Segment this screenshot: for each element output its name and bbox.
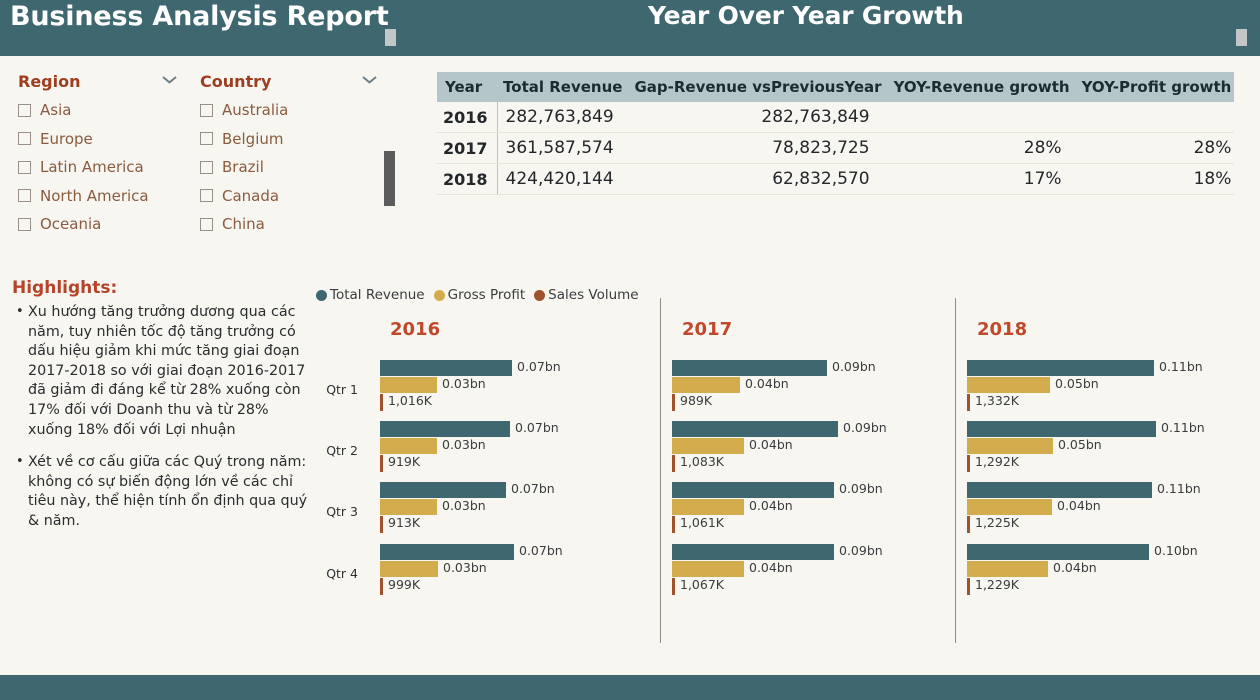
bar-sales-volume-value-label: 919K (388, 454, 420, 469)
bar-gross-profit[interactable] (672, 377, 740, 393)
country-option-belgium[interactable]: Belgium (200, 125, 390, 154)
bar-total-revenue[interactable] (967, 360, 1154, 376)
bar-total-revenue[interactable] (967, 482, 1152, 498)
country-option-list: AustraliaBelgiumBrazilCanadaChina (200, 96, 390, 239)
bar-total-revenue[interactable] (672, 544, 834, 560)
col-header-yoy-profit[interactable]: YOY-Profit growth (1076, 72, 1235, 102)
cell-yoy-revenue: 17% (888, 164, 1076, 195)
checkbox-icon[interactable] (18, 161, 31, 174)
cell-yoy-revenue (888, 102, 1076, 133)
chart-panel-title: 2018 (977, 319, 1027, 340)
bar-gross-profit[interactable] (380, 561, 438, 577)
country-option-label: China (222, 215, 265, 233)
region-filter-label: Region (18, 72, 81, 91)
region-option-list: AsiaEuropeLatin AmericaNorth AmericaOcea… (18, 96, 188, 239)
highlight-item: Xu hướng tăng trưởng dương qua các năm, … (12, 303, 312, 440)
cell-year: 2016 (437, 102, 497, 133)
bar-gross-profit[interactable] (967, 499, 1052, 515)
bar-gross-profit-value-label: 0.05bn (1058, 437, 1102, 452)
bar-gross-profit[interactable] (380, 499, 437, 515)
bar-total-revenue-value-label: 0.09bn (839, 481, 883, 496)
bar-sales-volume[interactable] (672, 455, 675, 472)
quarter-axis-label: Qtr 2 (316, 443, 358, 458)
checkbox-icon[interactable] (18, 132, 31, 145)
bar-sales-volume-value-label: 1,061K (680, 515, 724, 530)
checkbox-icon[interactable] (18, 218, 31, 231)
bar-gross-profit-value-label: 0.03bn (443, 560, 487, 575)
region-option-label: Europe (40, 130, 93, 148)
checkbox-icon[interactable] (200, 132, 213, 145)
bar-sales-volume[interactable] (967, 516, 970, 533)
bar-total-revenue-value-label: 0.11bn (1159, 359, 1203, 374)
bar-total-revenue[interactable] (672, 482, 834, 498)
bar-total-revenue[interactable] (672, 360, 827, 376)
filter-panel: Region AsiaEuropeLatin AmericaNorth Amer… (0, 56, 420, 248)
chart-panels: 2016Qtr 10.07bn0.03bn1,016KQtr 20.07bn0.… (316, 305, 1246, 645)
region-option-oceania[interactable]: Oceania (18, 210, 188, 239)
legend-item-total-revenue[interactable]: Total Revenue (316, 287, 425, 303)
bar-sales-volume-value-label: 989K (680, 393, 712, 408)
checkbox-icon[interactable] (200, 218, 213, 231)
bar-sales-volume[interactable] (672, 516, 675, 533)
cell-gap-revenue: 62,832,570 (628, 164, 887, 195)
country-option-label: Brazil (222, 158, 264, 176)
country-filter-header[interactable]: Country (200, 72, 390, 96)
table-row[interactable]: 2018424,420,14462,832,57017%18% (437, 164, 1234, 195)
country-option-australia[interactable]: Australia (200, 96, 390, 125)
bar-total-revenue-value-label: 0.07bn (517, 359, 561, 374)
bar-sales-volume-value-label: 1,067K (680, 577, 724, 592)
bar-gross-profit-value-label: 0.04bn (1057, 498, 1101, 513)
bar-gross-profit-value-label: 0.05bn (1055, 376, 1099, 391)
legend-label: Sales Volume (548, 287, 638, 303)
bar-total-revenue-value-label: 0.09bn (843, 420, 887, 435)
region-filter-header[interactable]: Region (18, 72, 188, 96)
bar-gross-profit[interactable] (967, 438, 1053, 454)
region-option-latin-america[interactable]: Latin America (18, 153, 188, 182)
bar-gross-profit[interactable] (380, 438, 437, 454)
bar-sales-volume-value-label: 1,229K (975, 577, 1019, 592)
bar-gross-profit[interactable] (672, 438, 744, 454)
region-option-asia[interactable]: Asia (18, 96, 188, 125)
cell-yoy-revenue: 28% (888, 133, 1076, 164)
cell-year: 2017 (437, 133, 497, 164)
legend-item-sales-volume[interactable]: Sales Volume (534, 287, 638, 303)
legend-swatch-icon (534, 290, 545, 301)
bar-gross-profit-value-label: 0.04bn (1053, 560, 1097, 575)
region-option-label: Latin America (40, 158, 144, 176)
header-marker-right[interactable] (1236, 29, 1247, 46)
legend-swatch-icon (434, 290, 445, 301)
bar-gross-profit-value-label: 0.04bn (745, 376, 789, 391)
chart-panel-2017: 20170.09bn0.04bn989K0.09bn0.04bn1,083K0.… (660, 305, 955, 645)
bar-total-revenue[interactable] (967, 544, 1149, 560)
country-option-china[interactable]: China (200, 210, 390, 239)
bar-gross-profit-value-label: 0.04bn (749, 560, 793, 575)
highlights-section: Highlights: Xu hướng tăng trưởng dương q… (12, 278, 312, 545)
quarter-axis-label: Qtr 4 (316, 566, 358, 581)
legend-item-gross-profit[interactable]: Gross Profit (434, 287, 526, 303)
chart-panel-title: 2017 (682, 319, 732, 340)
header-marker-left[interactable] (385, 29, 396, 46)
checkbox-icon[interactable] (18, 104, 31, 117)
col-header-year[interactable]: Year (437, 72, 497, 102)
region-filter: Region AsiaEuropeLatin AmericaNorth Amer… (18, 72, 188, 239)
bar-total-revenue-value-label: 0.11bn (1161, 420, 1205, 435)
bar-total-revenue[interactable] (672, 421, 838, 437)
legend-label: Total Revenue (330, 287, 425, 303)
legend-swatch-icon (316, 290, 327, 301)
highlights-list: Xu hướng tăng trưởng dương qua các năm, … (12, 303, 312, 532)
bar-gross-profit-value-label: 0.04bn (749, 437, 793, 452)
bar-sales-volume[interactable] (967, 394, 970, 411)
cell-total-revenue: 361,587,574 (497, 133, 628, 164)
chart-panel-2016: 2016Qtr 10.07bn0.03bn1,016KQtr 20.07bn0.… (316, 305, 660, 645)
bar-gross-profit[interactable] (967, 561, 1048, 577)
country-option-brazil[interactable]: Brazil (200, 153, 390, 182)
country-option-label: Canada (222, 187, 279, 205)
cell-yoy-profit: 28% (1076, 133, 1235, 164)
bar-total-revenue-value-label: 0.11bn (1157, 481, 1201, 496)
bar-sales-volume-value-label: 999K (388, 577, 420, 592)
country-option-label: Belgium (222, 130, 284, 148)
col-header-gap-revenue[interactable]: Gap-Revenue vsPreviousYear (628, 72, 887, 102)
bar-gross-profit-value-label: 0.03bn (442, 376, 486, 391)
country-filter: Country AustraliaBelgiumBrazilCanadaChin… (200, 72, 390, 239)
bar-sales-volume[interactable] (967, 578, 970, 595)
legend-label: Gross Profit (448, 287, 526, 303)
cell-gap-revenue: 282,763,849 (628, 102, 887, 133)
bar-sales-volume-value-label: 1,083K (680, 454, 724, 469)
country-option-label: Australia (222, 101, 288, 119)
bar-sales-volume[interactable] (380, 516, 383, 533)
cell-total-revenue: 282,763,849 (497, 102, 628, 133)
checkbox-icon[interactable] (200, 161, 213, 174)
checkbox-icon[interactable] (200, 104, 213, 117)
cell-gap-revenue: 78,823,725 (628, 133, 887, 164)
bar-total-revenue-value-label: 0.07bn (519, 543, 563, 558)
bar-total-revenue-value-label: 0.07bn (511, 481, 555, 496)
bar-total-revenue[interactable] (380, 482, 506, 498)
bar-sales-volume[interactable] (967, 455, 970, 472)
region-option-label: Asia (40, 101, 71, 119)
dashboard-root: Business Analysis Report Year Over Year … (0, 0, 1260, 700)
bar-gross-profit-value-label: 0.03bn (442, 437, 486, 452)
chart-panel-2018: 20180.11bn0.05bn1,332K0.11bn0.05bn1,292K… (955, 305, 1246, 645)
bar-sales-volume[interactable] (672, 578, 675, 595)
bar-sales-volume[interactable] (380, 455, 383, 472)
app-header: Business Analysis Report Year Over Year … (0, 0, 1260, 56)
bar-sales-volume[interactable] (672, 394, 675, 411)
bar-gross-profit[interactable] (672, 561, 744, 577)
table-row[interactable]: 2016282,763,849282,763,849 (437, 102, 1234, 133)
chart-legend: Total RevenueGross ProfitSales Volume (316, 287, 648, 303)
bar-sales-volume-value-label: 1,332K (975, 393, 1019, 408)
bar-total-revenue-value-label: 0.07bn (515, 420, 559, 435)
bar-sales-volume-value-label: 1,292K (975, 454, 1019, 469)
region-option-label: Oceania (40, 215, 101, 233)
bar-total-revenue-value-label: 0.10bn (1154, 543, 1198, 558)
yoy-summary-table: Year Total Revenue Gap-Revenue vsPreviou… (437, 72, 1225, 195)
bar-total-revenue[interactable] (380, 421, 510, 437)
chevron-down-icon[interactable] (363, 76, 376, 84)
col-header-total-revenue[interactable]: Total Revenue (497, 72, 628, 102)
chevron-down-icon[interactable] (163, 76, 176, 84)
page-title-right: Year Over Year Growth (648, 1, 964, 30)
region-option-north-america[interactable]: North America (18, 182, 188, 211)
quarter-axis-label: Qtr 1 (316, 382, 358, 397)
col-header-yoy-revenue[interactable]: YOY-Revenue growth (888, 72, 1076, 102)
table-row[interactable]: 2017361,587,57478,823,72528%28% (437, 133, 1234, 164)
chart-panel-title: 2016 (390, 319, 440, 340)
cell-yoy-profit: 18% (1076, 164, 1235, 195)
region-option-label: North America (40, 187, 149, 205)
highlights-title: Highlights: (12, 278, 312, 298)
cell-year: 2018 (437, 164, 497, 195)
bar-total-revenue-value-label: 0.09bn (832, 359, 876, 374)
bar-gross-profit-value-label: 0.04bn (749, 498, 793, 513)
checkbox-icon[interactable] (18, 189, 31, 202)
bar-sales-volume-value-label: 1,225K (975, 515, 1019, 530)
table-header-row: Year Total Revenue Gap-Revenue vsPreviou… (437, 72, 1234, 102)
bar-gross-profit[interactable] (967, 377, 1050, 393)
cell-yoy-profit (1076, 102, 1235, 133)
cell-total-revenue: 424,420,144 (497, 164, 628, 195)
bar-gross-profit-value-label: 0.03bn (442, 498, 486, 513)
country-option-canada[interactable]: Canada (200, 182, 390, 211)
bar-total-revenue-value-label: 0.09bn (839, 543, 883, 558)
app-footer (0, 675, 1260, 700)
quarter-axis-label: Qtr 3 (316, 504, 358, 519)
checkbox-icon[interactable] (200, 189, 213, 202)
bar-total-revenue[interactable] (967, 421, 1156, 437)
bar-total-revenue[interactable] (380, 544, 514, 560)
bar-gross-profit[interactable] (672, 499, 744, 515)
bar-sales-volume-value-label: 913K (388, 515, 420, 530)
bar-sales-volume[interactable] (380, 394, 383, 411)
country-filter-label: Country (200, 72, 271, 91)
bar-sales-volume[interactable] (380, 578, 383, 595)
page-title-left: Business Analysis Report (10, 1, 389, 32)
bar-total-revenue[interactable] (380, 360, 512, 376)
highlight-item: Xét về cơ cấu giữa các Quý trong năm: kh… (12, 453, 312, 531)
bar-gross-profit[interactable] (380, 377, 437, 393)
region-option-europe[interactable]: Europe (18, 125, 188, 154)
bar-sales-volume-value-label: 1,016K (388, 393, 432, 408)
country-scrollbar-thumb[interactable] (384, 151, 395, 206)
